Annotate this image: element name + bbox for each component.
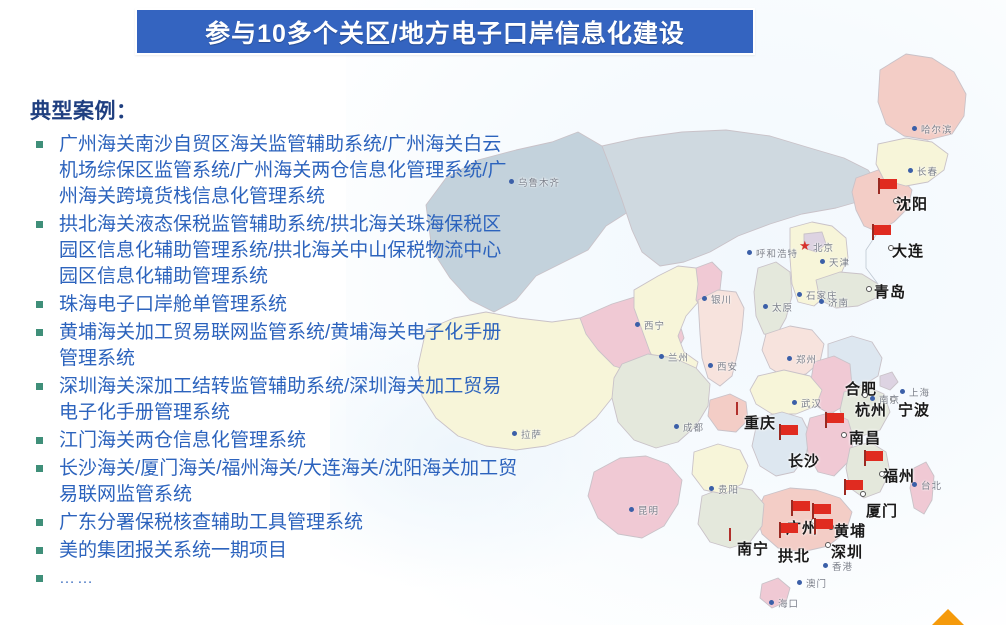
city-dot <box>888 245 894 251</box>
city-dot <box>825 542 831 548</box>
city-dot <box>912 126 917 131</box>
list-item: 美的集团报关系统一期项目 <box>30 538 520 564</box>
flag-marker-icon <box>812 503 832 519</box>
list-item: 珠海电子口岸舱单管理系统 <box>30 292 520 318</box>
city-dot <box>769 600 774 605</box>
city-dot <box>820 259 825 264</box>
bullet-square-icon <box>36 575 43 582</box>
bullet-square-icon <box>36 329 43 336</box>
city-dot <box>709 486 714 491</box>
list-item: 深圳海关深加工结转监管辅助系统/深圳海关加工贸易电子化手册管理系统 <box>30 374 520 426</box>
city-dot <box>866 286 872 292</box>
city-dot <box>900 389 905 394</box>
city-dot <box>893 198 899 204</box>
list-item: 黄埔海关加工贸易联网监管系统/黄埔海关电子化手册管理系统 <box>30 320 520 372</box>
list-item-label: 深圳海关深加工结转监管辅助系统/深圳海关加工贸易电子化手册管理系统 <box>59 374 520 426</box>
list-item-label: 广东分署保税核查辅助工具管理系统 <box>59 510 363 536</box>
flag-marker-icon <box>878 178 898 194</box>
city-dot <box>763 304 768 309</box>
list-item-label: 黄埔海关加工贸易联网监管系统/黄埔海关电子化手册管理系统 <box>59 320 520 372</box>
flag-marker-icon <box>791 500 811 516</box>
city-dot <box>787 356 792 361</box>
city-dot <box>860 491 866 497</box>
city-dot <box>819 299 824 304</box>
flag-marker-icon <box>864 450 884 466</box>
list-item: 长沙海关/厦门海关/福州海关/大连海关/沈阳海关加工贸易联网监管系统 <box>30 456 520 508</box>
list-item-label: 拱北海关液态保税监管辅助系统/拱北海关珠海保税区园区信息化辅助管理系统/拱北海关… <box>59 212 520 290</box>
city-dot <box>870 396 875 401</box>
slide-root: 沈阳大连青岛合肥杭州宁波南昌长沙福州厦门广州黄埔深圳拱北重庆南宁★北京乌鲁木齐哈… <box>0 0 1006 625</box>
bullet-square-icon <box>36 465 43 472</box>
list-item-label: …… <box>59 566 95 592</box>
city-dot <box>912 482 917 487</box>
page-title: 参与10多个关区/地方电子口岸信息化建设 <box>205 14 685 50</box>
city-dot <box>908 168 913 173</box>
list-item-label: 广州海关南沙自贸区海关监管辅助系统/广州海关白云机场综保区监管系统/广州海关两仓… <box>59 132 520 210</box>
slide-title-bar: 参与10多个关区/地方电子口岸信息化建设 <box>135 8 755 55</box>
city-dot <box>879 471 885 477</box>
list-item: 广东分署保税核查辅助工具管理系统 <box>30 510 520 536</box>
city-dot <box>890 396 896 402</box>
capital-marker-icon <box>729 528 731 541</box>
flag-marker-icon <box>814 518 834 534</box>
bullet-square-icon <box>36 301 43 308</box>
list-item-label: 美的集团报关系统一期项目 <box>59 538 287 564</box>
city-dot <box>674 424 679 429</box>
city-dot <box>747 250 752 255</box>
panel-heading: 典型案例： <box>30 95 138 125</box>
city-dot <box>792 400 797 405</box>
list-item-label: 江门海关两仓信息化管理系统 <box>59 428 306 454</box>
list-item: 江门海关两仓信息化管理系统 <box>30 428 520 454</box>
bullet-square-icon <box>36 519 43 526</box>
capital-star-icon: ★ <box>799 241 811 250</box>
list-item-label: 长沙海关/厦门海关/福州海关/大连海关/沈阳海关加工贸易联网监管系统 <box>59 456 520 508</box>
capital-marker-icon <box>736 402 738 415</box>
city-dot <box>629 507 634 512</box>
city-dot <box>797 580 802 585</box>
city-dot <box>635 322 640 327</box>
bullet-square-icon <box>36 141 43 148</box>
city-dot <box>862 392 868 398</box>
bullet-square-icon <box>36 547 43 554</box>
case-bullet-list: 广州海关南沙自贸区海关监管辅助系统/广州海关白云机场综保区监管系统/广州海关两仓… <box>30 132 520 594</box>
city-dot <box>708 363 713 368</box>
city-dot <box>702 296 707 301</box>
city-dot <box>823 563 828 568</box>
list-item: …… <box>30 566 520 592</box>
list-item: 拱北海关液态保税监管辅助系统/拱北海关珠海保税区园区信息化辅助管理系统/拱北海关… <box>30 212 520 290</box>
list-item-label: 珠海电子口岸舱单管理系统 <box>59 292 287 318</box>
flag-marker-icon <box>872 224 892 240</box>
bullet-square-icon <box>36 383 43 390</box>
flag-marker-icon <box>825 412 845 428</box>
chevron-up-icon <box>926 609 970 625</box>
city-dot <box>659 354 664 359</box>
city-dot <box>798 548 804 554</box>
flag-marker-icon <box>779 424 799 440</box>
bullet-square-icon <box>36 437 43 444</box>
city-dot <box>841 432 847 438</box>
case-list-panel: 典型案例： 广州海关南沙自贸区海关监管辅助系统/广州海关白云机场综保区监管系统/… <box>0 70 530 610</box>
city-dot <box>797 292 802 297</box>
flag-marker-icon <box>779 522 799 538</box>
list-item: 广州海关南沙自贸区海关监管辅助系统/广州海关白云机场综保区监管系统/广州海关两仓… <box>30 132 520 210</box>
bullet-square-icon <box>36 221 43 228</box>
